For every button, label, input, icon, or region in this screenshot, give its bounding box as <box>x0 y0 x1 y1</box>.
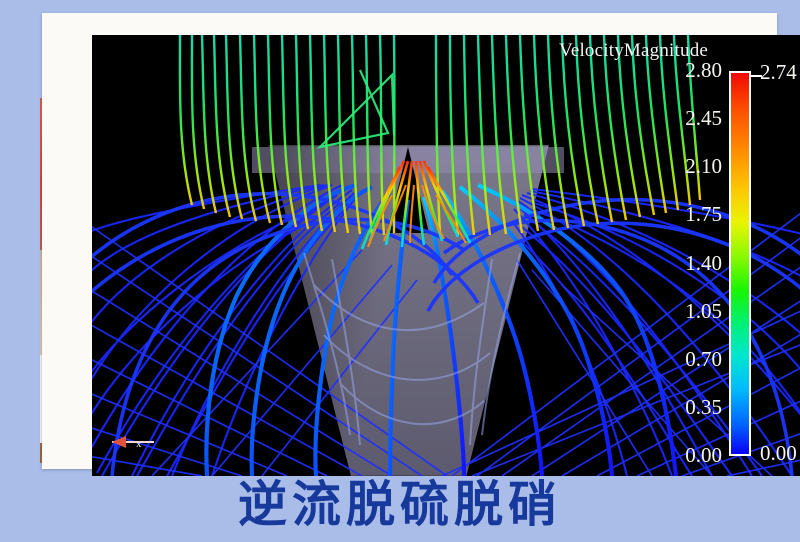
colorbar-tick-3: 1.75 <box>685 202 722 227</box>
screenshot-root: x VelocityMagnitude 2.802.452.101.751.40… <box>0 0 800 542</box>
colorbar-data-max-label: 2.74 <box>760 60 797 85</box>
colorbar-tick-2: 2.10 <box>685 154 722 179</box>
caption-text: 逆流脱硫脱硝 <box>0 473 800 537</box>
image-frame: x VelocityMagnitude 2.802.452.101.751.40… <box>42 13 777 469</box>
streamline-group-downflow <box>180 35 700 235</box>
colorbar-gradient-bar <box>729 71 751 456</box>
colorbar-tick-8: 0.00 <box>685 443 722 468</box>
colorbar-data-min-label: 0.00 <box>760 441 797 466</box>
streamline-group-internal-recirculation <box>304 253 520 445</box>
streamline-zigzag-motif <box>320 70 394 147</box>
colorbar-tick-1: 2.45 <box>685 106 722 131</box>
colorbar-tick-0: 2.80 <box>685 58 722 83</box>
colorbar-tick-labels: 2.802.452.101.751.401.050.700.350.00 <box>637 59 722 469</box>
colorbar-tick-7: 0.35 <box>685 395 722 420</box>
render-viewport[interactable]: x VelocityMagnitude 2.802.452.101.751.40… <box>92 35 800 476</box>
axis-label-x: x <box>136 438 142 450</box>
colorbar-tick-5: 1.05 <box>685 299 722 324</box>
cfd-scene: x VelocityMagnitude 2.802.452.101.751.40… <box>92 35 800 476</box>
colorbar-tick-4: 1.40 <box>685 251 722 276</box>
axis-triad-icon <box>98 430 158 454</box>
colorbar-tick-6: 0.70 <box>685 347 722 372</box>
